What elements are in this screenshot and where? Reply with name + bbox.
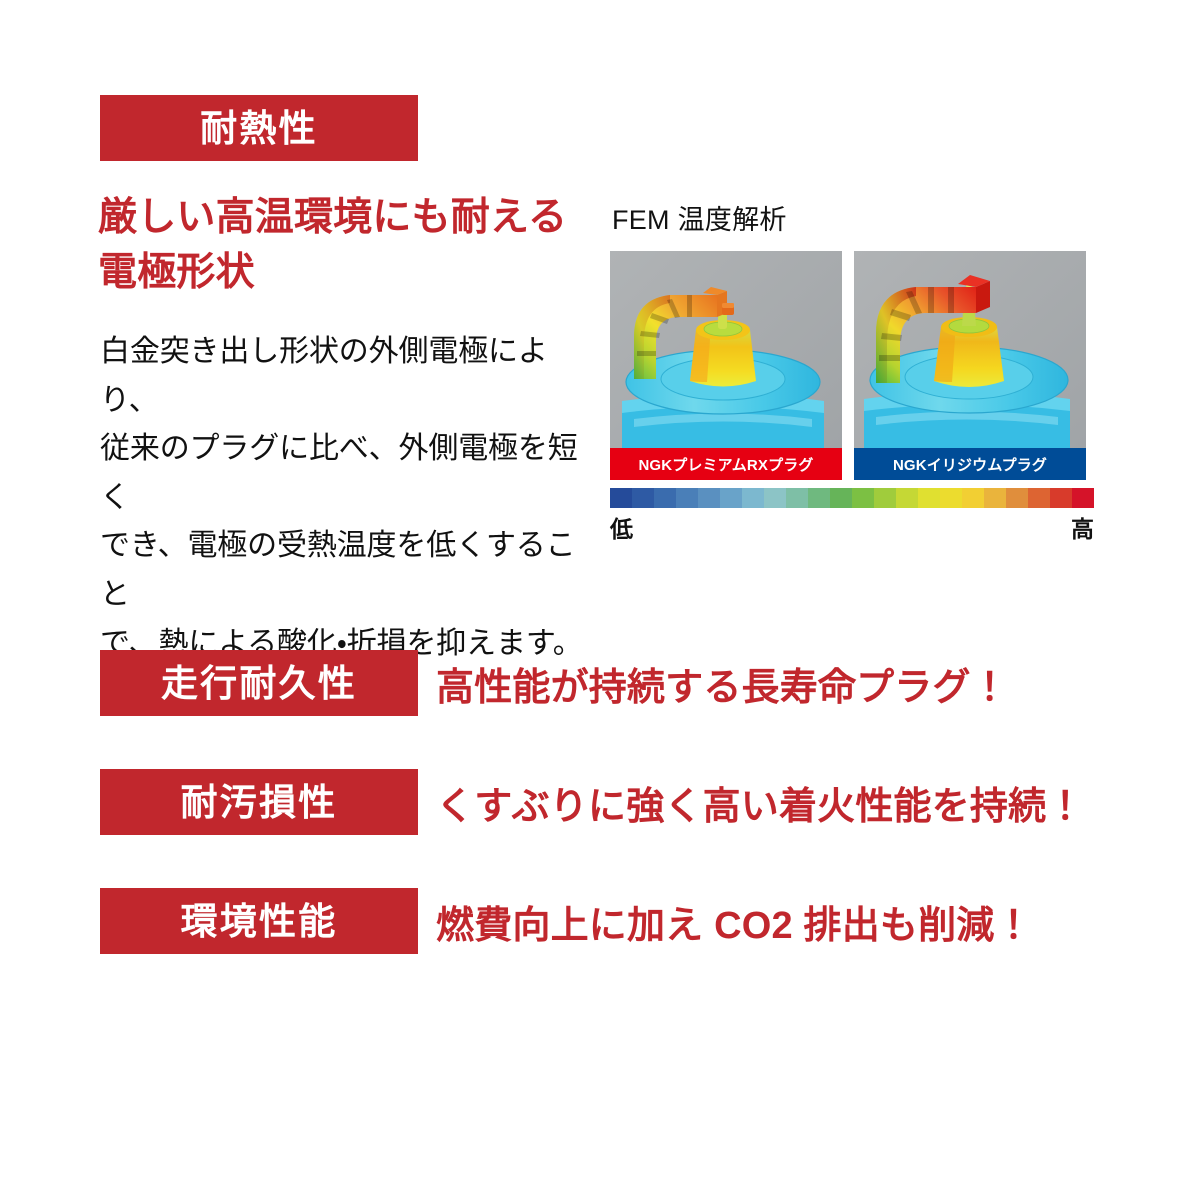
temperature-scale-band-18 xyxy=(1006,488,1028,508)
temperature-scale-high-label: 高 xyxy=(1071,510,1094,544)
feature-text-driving-durability: 高性能が持続する長寿命プラグ！ xyxy=(436,656,1009,711)
fem-panel-group: NGKプレミアムRXプラグ xyxy=(610,251,1094,480)
temperature-scale: 低 高 xyxy=(610,488,1094,544)
badge-environmental-performance-label: 環境性能 xyxy=(181,903,338,940)
fem-analysis-title: FEM 温度解析 xyxy=(612,198,1094,237)
feature-text-environmental-performance: 燃費向上に加え CO2 排出も削減！ xyxy=(436,894,1033,949)
temperature-scale-band-6 xyxy=(742,488,764,508)
temperature-scale-band-9 xyxy=(808,488,830,508)
temperature-scale-band-16 xyxy=(962,488,984,508)
badge-heat-resistance-label: 耐熱性 xyxy=(200,110,318,147)
temperature-scale-band-13 xyxy=(896,488,918,508)
temperature-scale-band-15 xyxy=(940,488,962,508)
fem-caption-premium-rx: NGKプレミアムRXプラグ xyxy=(610,448,842,480)
temperature-scale-band-20 xyxy=(1050,488,1072,508)
heading-heat-line1: 厳しい高温環境にも耐える xyxy=(98,190,598,245)
temperature-scale-band-7 xyxy=(764,488,786,508)
fem-caption-premium-rx-label: NGKプレミアムRXプラグ xyxy=(638,454,813,475)
feature-row-driving-durability: 走行耐久性 高性能が持続する長寿命プラグ！ xyxy=(100,650,1050,716)
badge-driving-durability: 走行耐久性 xyxy=(100,650,418,716)
feature-text-fouling-resistance: くすぶりに強く高い着火性能を持続！ xyxy=(436,775,1084,830)
temperature-scale-low-label: 低 xyxy=(610,510,633,544)
temperature-scale-band-2 xyxy=(654,488,676,508)
badge-heat-resistance: 耐熱性 xyxy=(100,95,418,161)
temperature-scale-band-12 xyxy=(874,488,896,508)
badge-fouling-resistance: 耐汚損性 xyxy=(100,769,418,835)
badge-fouling-resistance-label: 耐汚損性 xyxy=(181,784,338,821)
temperature-scale-band-0 xyxy=(610,488,632,508)
temperature-scale-band-21 xyxy=(1072,488,1094,508)
feature-row-fouling-resistance: 耐汚損性 くすぶりに強く高い着火性能を持続！ xyxy=(100,769,1050,835)
temperature-scale-bar xyxy=(610,488,1094,508)
fem-thermal-render-premium-rx xyxy=(610,251,842,480)
temperature-scale-labels: 低 高 xyxy=(610,510,1094,544)
heading-heat-line2: 電極形状 xyxy=(98,245,598,300)
temperature-scale-band-1 xyxy=(632,488,654,508)
feature-row-environmental-performance: 環境性能 燃費向上に加え CO2 排出も削減！ xyxy=(100,888,1050,954)
body-heat-line3: でき、電極の受熱温度を低くすること xyxy=(100,522,590,619)
temperature-scale-band-5 xyxy=(720,488,742,508)
badge-driving-durability-label: 走行耐久性 xyxy=(161,665,357,702)
temperature-scale-band-19 xyxy=(1028,488,1050,508)
fem-caption-iridium: NGKイリジウムプラグ xyxy=(854,448,1086,480)
temperature-scale-band-4 xyxy=(698,488,720,508)
temperature-scale-band-11 xyxy=(852,488,874,508)
temperature-scale-band-10 xyxy=(830,488,852,508)
temperature-scale-band-3 xyxy=(676,488,698,508)
fem-panel-iridium: NGKイリジウムプラグ xyxy=(854,251,1086,480)
fem-analysis-block: FEM 温度解析 xyxy=(610,198,1094,544)
fem-thermal-render-iridium xyxy=(854,251,1086,480)
temperature-scale-band-17 xyxy=(984,488,1006,508)
body-heat-resistance: 白金突き出し形状の外側電極により、 従来のプラグに比べ、外側電極を短く でき、電… xyxy=(100,328,590,668)
badge-environmental-performance: 環境性能 xyxy=(100,888,418,954)
body-heat-line1: 白金突き出し形状の外側電極により、 xyxy=(100,328,590,425)
temperature-scale-band-14 xyxy=(918,488,940,508)
heading-heat-resistance: 厳しい高温環境にも耐える 電極形状 xyxy=(98,190,598,301)
fem-panel-premium-rx: NGKプレミアムRXプラグ xyxy=(610,251,842,480)
temperature-scale-band-8 xyxy=(786,488,808,508)
fem-caption-iridium-label: NGKイリジウムプラグ xyxy=(893,454,1047,475)
feature-panel-page: 耐熱性 厳しい高温環境にも耐える 電極形状 白金突き出し形状の外側電極により、 … xyxy=(0,0,1200,1200)
body-heat-line2: 従来のプラグに比べ、外側電極を短く xyxy=(100,425,590,522)
